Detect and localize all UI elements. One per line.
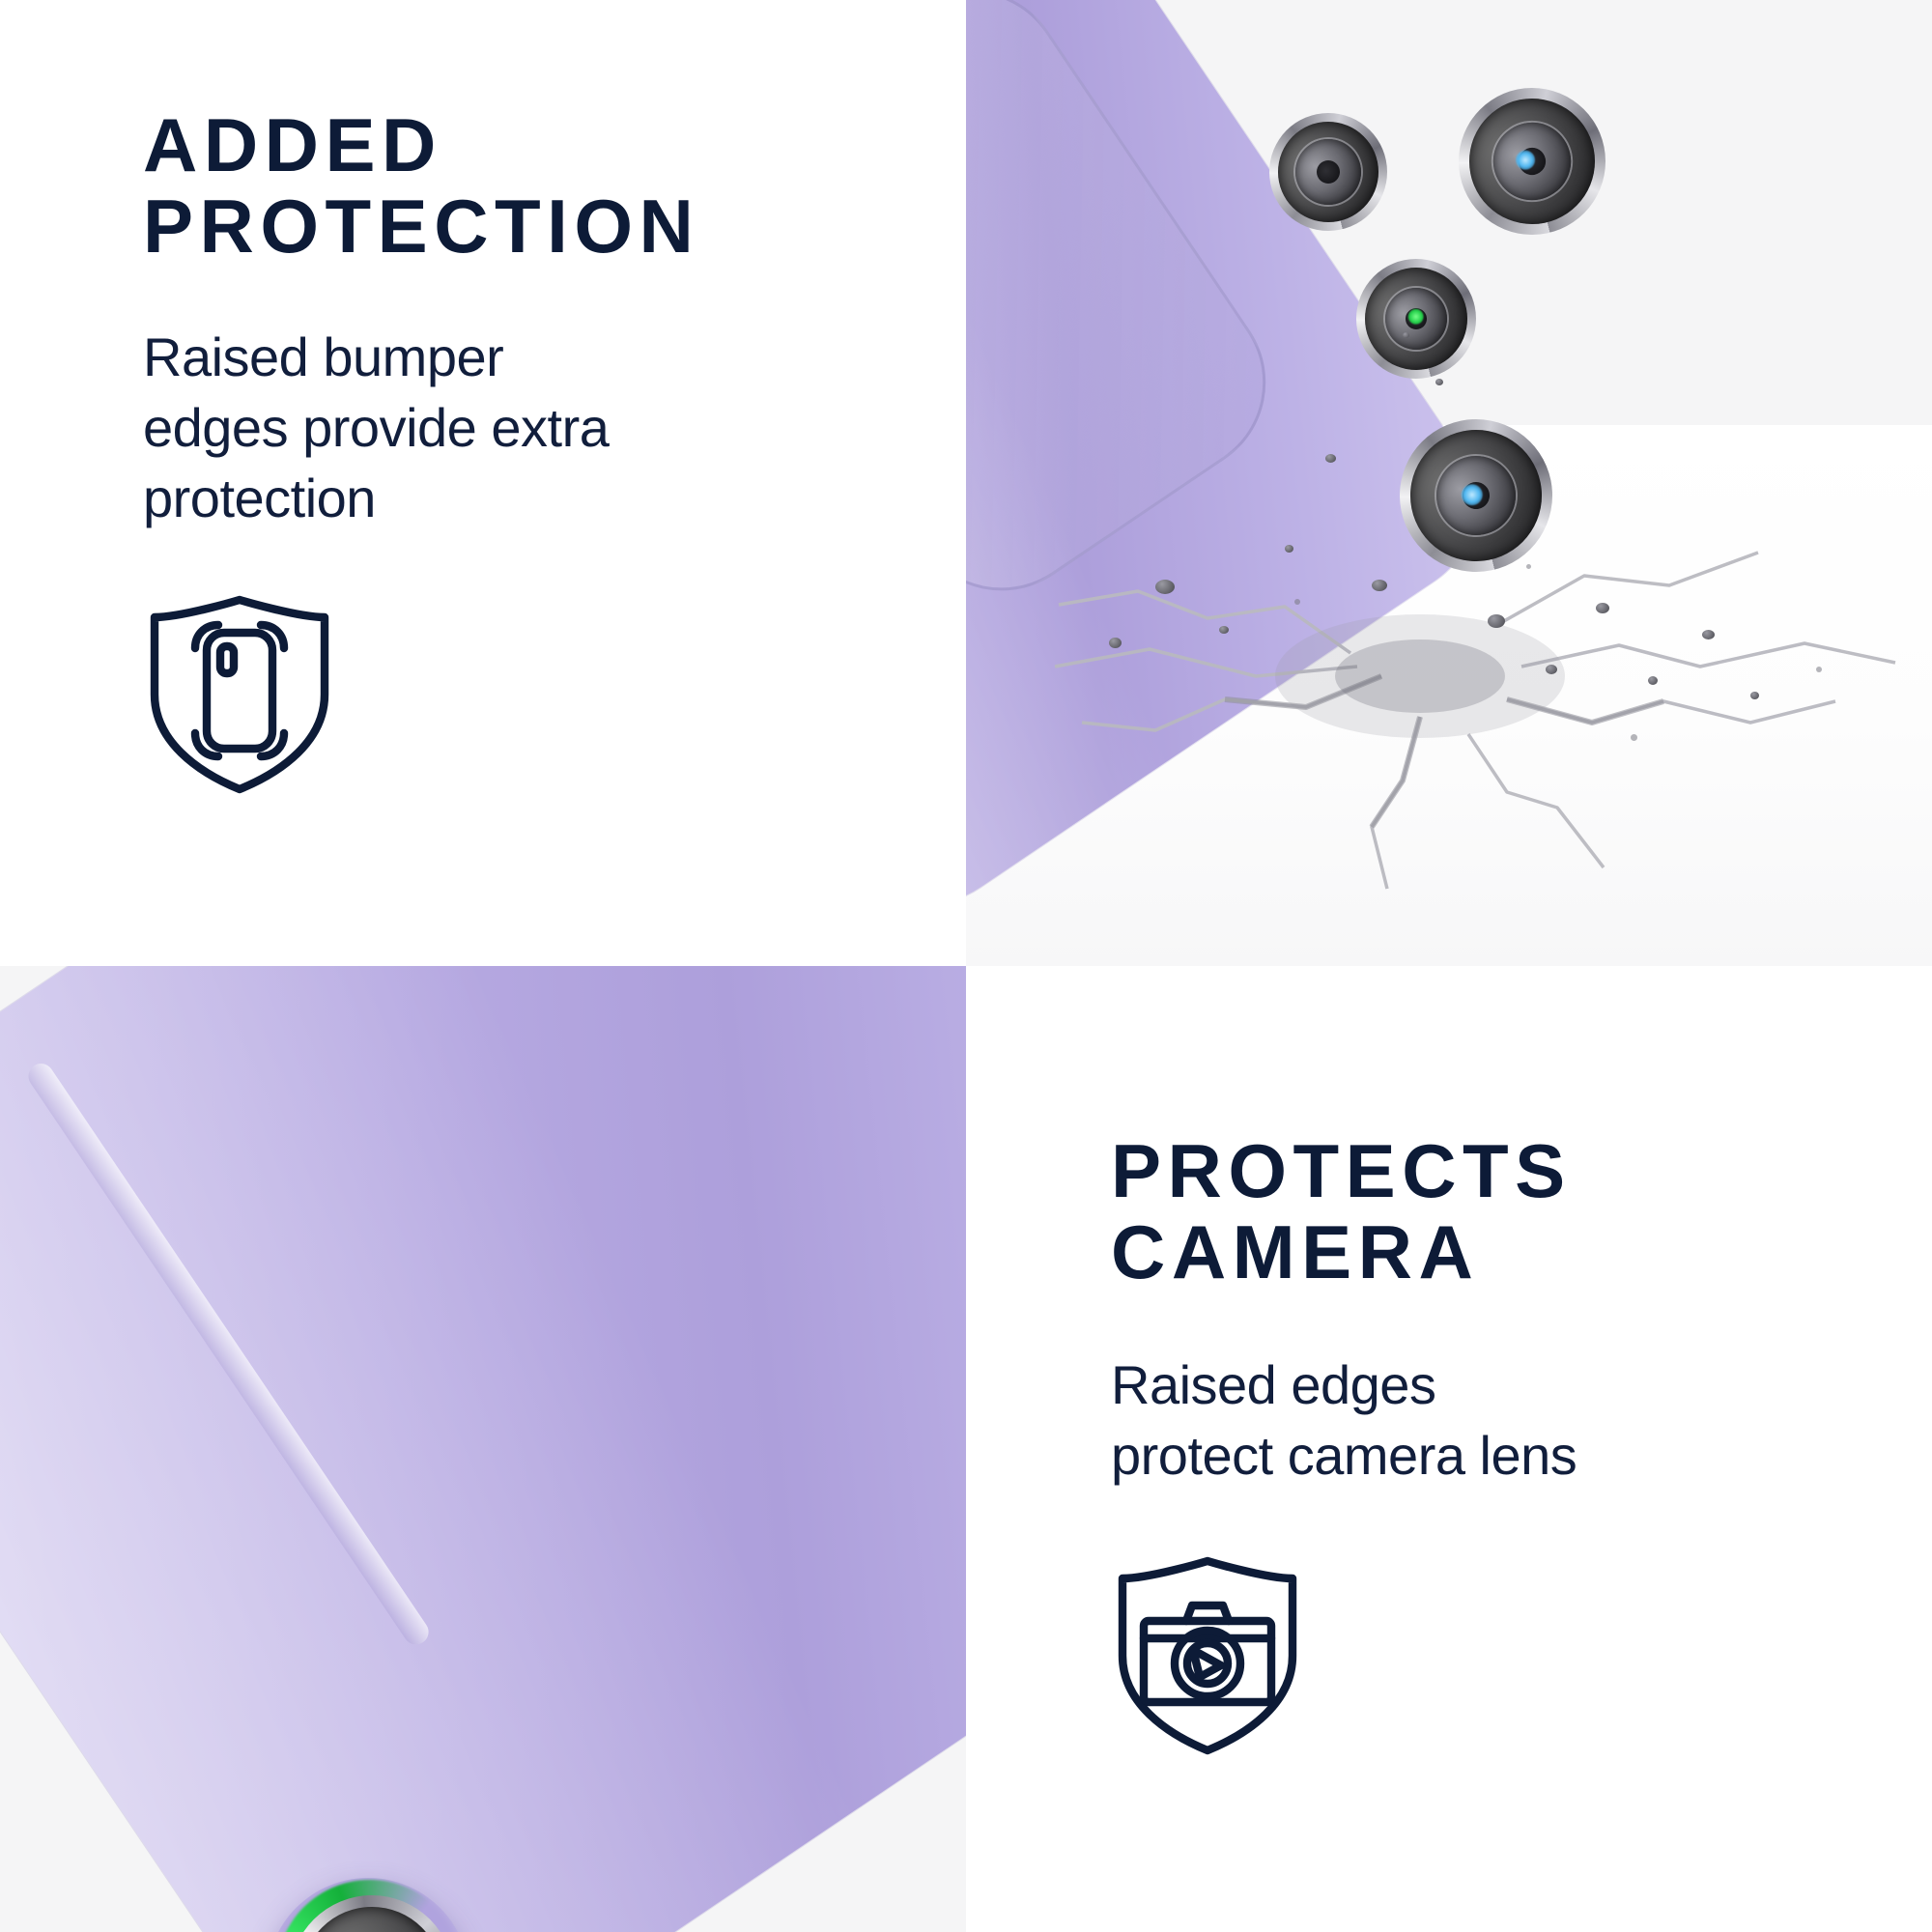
- panel-drop-impact-image: [966, 0, 1932, 966]
- case-gloss: [0, 966, 966, 1932]
- added-protection-text-block: ADDED PROTECTION Raised bumper edges pro…: [143, 0, 896, 966]
- added-protection-heading: ADDED PROTECTION: [143, 104, 896, 267]
- phone-camera-closeup-scene: [0, 966, 966, 1932]
- protects-camera-heading: PROTECTS CAMERA: [1111, 1130, 1864, 1293]
- panel-protects-camera: PROTECTS CAMERA Raised edges protect cam…: [966, 966, 1932, 1932]
- debris: [1403, 332, 1409, 338]
- phone-drop-impact-scene: [966, 0, 1932, 966]
- debris: [1435, 379, 1443, 385]
- debris: [1648, 676, 1658, 685]
- debris: [1109, 638, 1122, 648]
- feature-grid: ADDED PROTECTION Raised bumper edges pro…: [0, 0, 1932, 1932]
- shield-phone-icon: [143, 594, 896, 795]
- protects-camera-text-block: PROTECTS CAMERA Raised edges protect cam…: [1111, 966, 1864, 1932]
- added-protection-body: Raised bumper edges provide extra protec…: [143, 323, 896, 533]
- debris: [1750, 692, 1759, 699]
- camera-lens-2: [1430, 59, 1634, 263]
- debris: [1219, 626, 1229, 634]
- debris: [1596, 603, 1609, 613]
- debris: [1325, 454, 1336, 463]
- debris: [1488, 614, 1505, 628]
- dust: [1526, 564, 1531, 569]
- debris: [1546, 665, 1557, 674]
- shield-camera-icon: [1111, 1555, 1864, 1756]
- dust: [1631, 734, 1637, 741]
- protects-camera-body: Raised edges protect camera lens: [1111, 1350, 1864, 1492]
- dust: [1816, 667, 1822, 672]
- debris: [1702, 630, 1715, 639]
- debris: [1372, 580, 1387, 591]
- debris: [1155, 580, 1175, 594]
- phone-case-body: [0, 966, 966, 1932]
- panel-camera-closeup-image: [0, 966, 966, 1932]
- dust: [1294, 599, 1300, 605]
- debris: [1285, 545, 1293, 553]
- panel-added-protection: ADDED PROTECTION Raised bumper edges pro…: [0, 0, 966, 966]
- camera-island: [966, 0, 1301, 627]
